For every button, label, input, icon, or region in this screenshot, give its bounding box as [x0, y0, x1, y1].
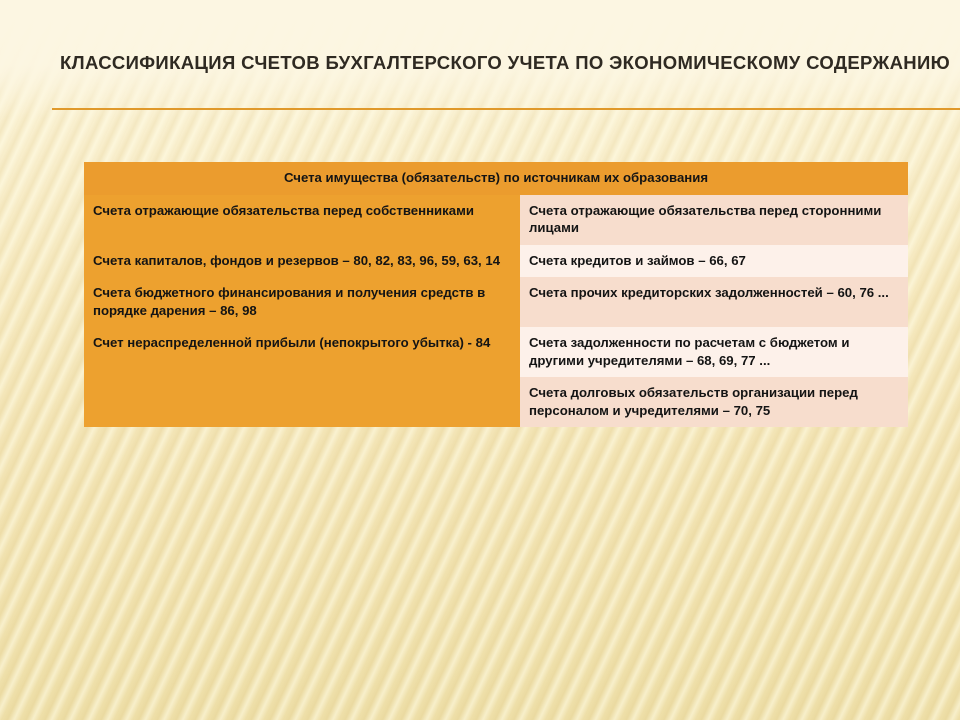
cell-right-3: Счета прочих кредиторских задолженностей… — [520, 277, 908, 327]
cell-right-4: Счета задолженности по расчетам с бюджет… — [520, 327, 908, 377]
classification-table: Счета имущества (обязательств) по источн… — [84, 162, 908, 427]
cell-left-3: Счета бюджетного финансирования и получе… — [84, 277, 520, 327]
table-row: Счета капиталов, фондов и резервов – 80,… — [84, 245, 908, 278]
cell-right-5: Счета долговых обязательств организации … — [520, 377, 908, 427]
cell-right-1: Счета отражающие обязательства перед сто… — [520, 195, 908, 245]
table-header-row: Счета имущества (обязательств) по источн… — [84, 162, 908, 195]
slide-canvas: КЛАССИФИКАЦИЯ СЧЕТОВ БУХГАЛТЕРСКОГО УЧЕТ… — [0, 0, 960, 720]
table-row: Счета бюджетного финансирования и получе… — [84, 277, 908, 327]
cell-right-2: Счета кредитов и займов – 66, 67 — [520, 245, 908, 278]
cell-left-2: Счета капиталов, фондов и резервов – 80,… — [84, 245, 520, 278]
table-header-cell: Счета имущества (обязательств) по источн… — [84, 162, 908, 195]
title-divider — [52, 108, 960, 110]
cell-left-1: Счета отражающие обязательства перед соб… — [84, 195, 520, 245]
page-title: КЛАССИФИКАЦИЯ СЧЕТОВ БУХГАЛТЕРСКОГО УЧЕТ… — [60, 52, 920, 74]
table-row: Счет нераспределенной прибыли (непокрыто… — [84, 327, 908, 377]
table-row: Счета отражающие обязательства перед соб… — [84, 195, 908, 245]
cell-left-4: Счет нераспределенной прибыли (непокрыто… — [84, 327, 520, 427]
